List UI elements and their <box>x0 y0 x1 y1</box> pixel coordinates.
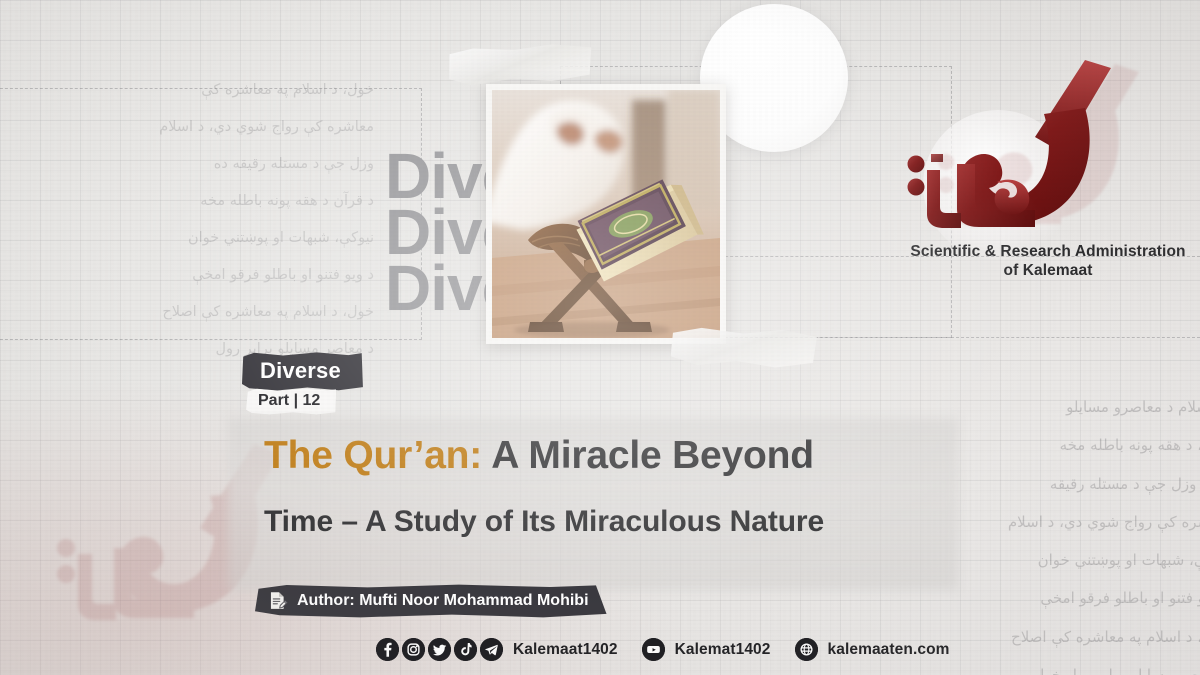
tape-strip-top <box>446 41 596 87</box>
logo-caption-line1: Scientific & Research Administration <box>875 242 1200 261</box>
social-group-youtube: Kalemat1402 <box>642 638 795 661</box>
title-block: The Qur’an: A Miracle Beyond Time – A St… <box>264 432 964 542</box>
social-handle-youtube[interactable]: Kalemat1402 <box>675 641 771 659</box>
category-badge[interactable]: Diverse <box>242 352 363 391</box>
page-title-rest: A Miracle Beyond <box>482 434 814 477</box>
background-ghost-text-left: خول، د اسلام په معاشره کې معاشره کې رواج… <box>0 72 374 368</box>
document-pencil-icon <box>267 590 288 611</box>
tiktok-icon[interactable] <box>454 638 477 661</box>
hero-photo-frame <box>486 84 726 344</box>
poster-canvas: خول، د اسلام په معاشره کې معاشره کې رواج… <box>0 0 1200 675</box>
page-title-line1: The Qur’an: A Miracle Beyond <box>264 432 964 480</box>
brand-logo: Scientific & Research Administration of … <box>875 58 1165 268</box>
author-label: Author: Mufti Noor Mohammad Mohibi <box>297 592 589 610</box>
instagram-icon[interactable] <box>402 638 425 661</box>
social-bar: Kalemaat1402 Kalemat1402 kalemaaten.com <box>376 638 950 661</box>
facebook-icon[interactable] <box>376 638 399 661</box>
social-handle-website[interactable]: kalemaaten.com <box>828 641 950 659</box>
logo-caption-line2: of Kalemaat <box>875 261 1200 280</box>
twitter-icon[interactable] <box>428 638 451 661</box>
author-badge[interactable]: Author: Mufti Noor Mohammad Mohibi <box>255 584 607 618</box>
social-handle-main[interactable]: Kalemaat1402 <box>513 641 618 659</box>
hero-photo <box>492 90 720 338</box>
social-group-main: Kalemaat1402 <box>376 638 642 661</box>
telegram-icon[interactable] <box>480 638 503 661</box>
website-icon[interactable] <box>795 638 818 661</box>
youtube-icon[interactable] <box>642 638 665 661</box>
logo-caption: Scientific & Research Administration of … <box>875 242 1200 280</box>
page-title-accent: The Qur’an: <box>264 434 482 477</box>
page-title-line2: Time – A Study of Its Miraculous Nature <box>264 502 964 542</box>
guide-box-left <box>0 88 422 340</box>
logo-wordmark <box>875 58 1165 243</box>
social-group-website: kalemaaten.com <box>795 638 950 661</box>
part-badge[interactable]: Part | 12 <box>246 388 336 415</box>
